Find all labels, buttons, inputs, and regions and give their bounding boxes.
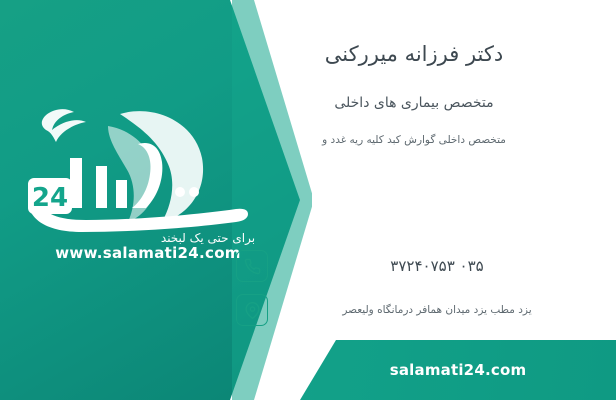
phone-row: ۳۷۲۴۰۷۵۳ ۰۳۵ bbox=[234, 250, 594, 282]
address-row: یزد مطب یزد میدان همافر درمانگاه ولیعصر bbox=[234, 294, 594, 326]
doctor-name: دکتر فرزانه میررکنی bbox=[234, 42, 594, 66]
phone-icon bbox=[236, 250, 268, 282]
doctor-sub-specialty: متخصص داخلی گوارش کبد کلیه ریه غدد و bbox=[234, 134, 594, 146]
doctor-specialty: متخصص بیماری های داخلی bbox=[234, 95, 594, 111]
logo-badge-number: 24 bbox=[32, 183, 68, 213]
business-card: 24 برای حتی یک لبخند www.salamati24.com … bbox=[0, 0, 616, 400]
footer-site: salamati24.com bbox=[300, 340, 616, 400]
address-text: یزد مطب یزد میدان همافر درمانگاه ولیعصر bbox=[268, 304, 594, 316]
phone-number: ۳۷۲۴۰۷۵۳ ۰۳۵ bbox=[268, 257, 594, 275]
map-pin-icon bbox=[236, 294, 268, 326]
